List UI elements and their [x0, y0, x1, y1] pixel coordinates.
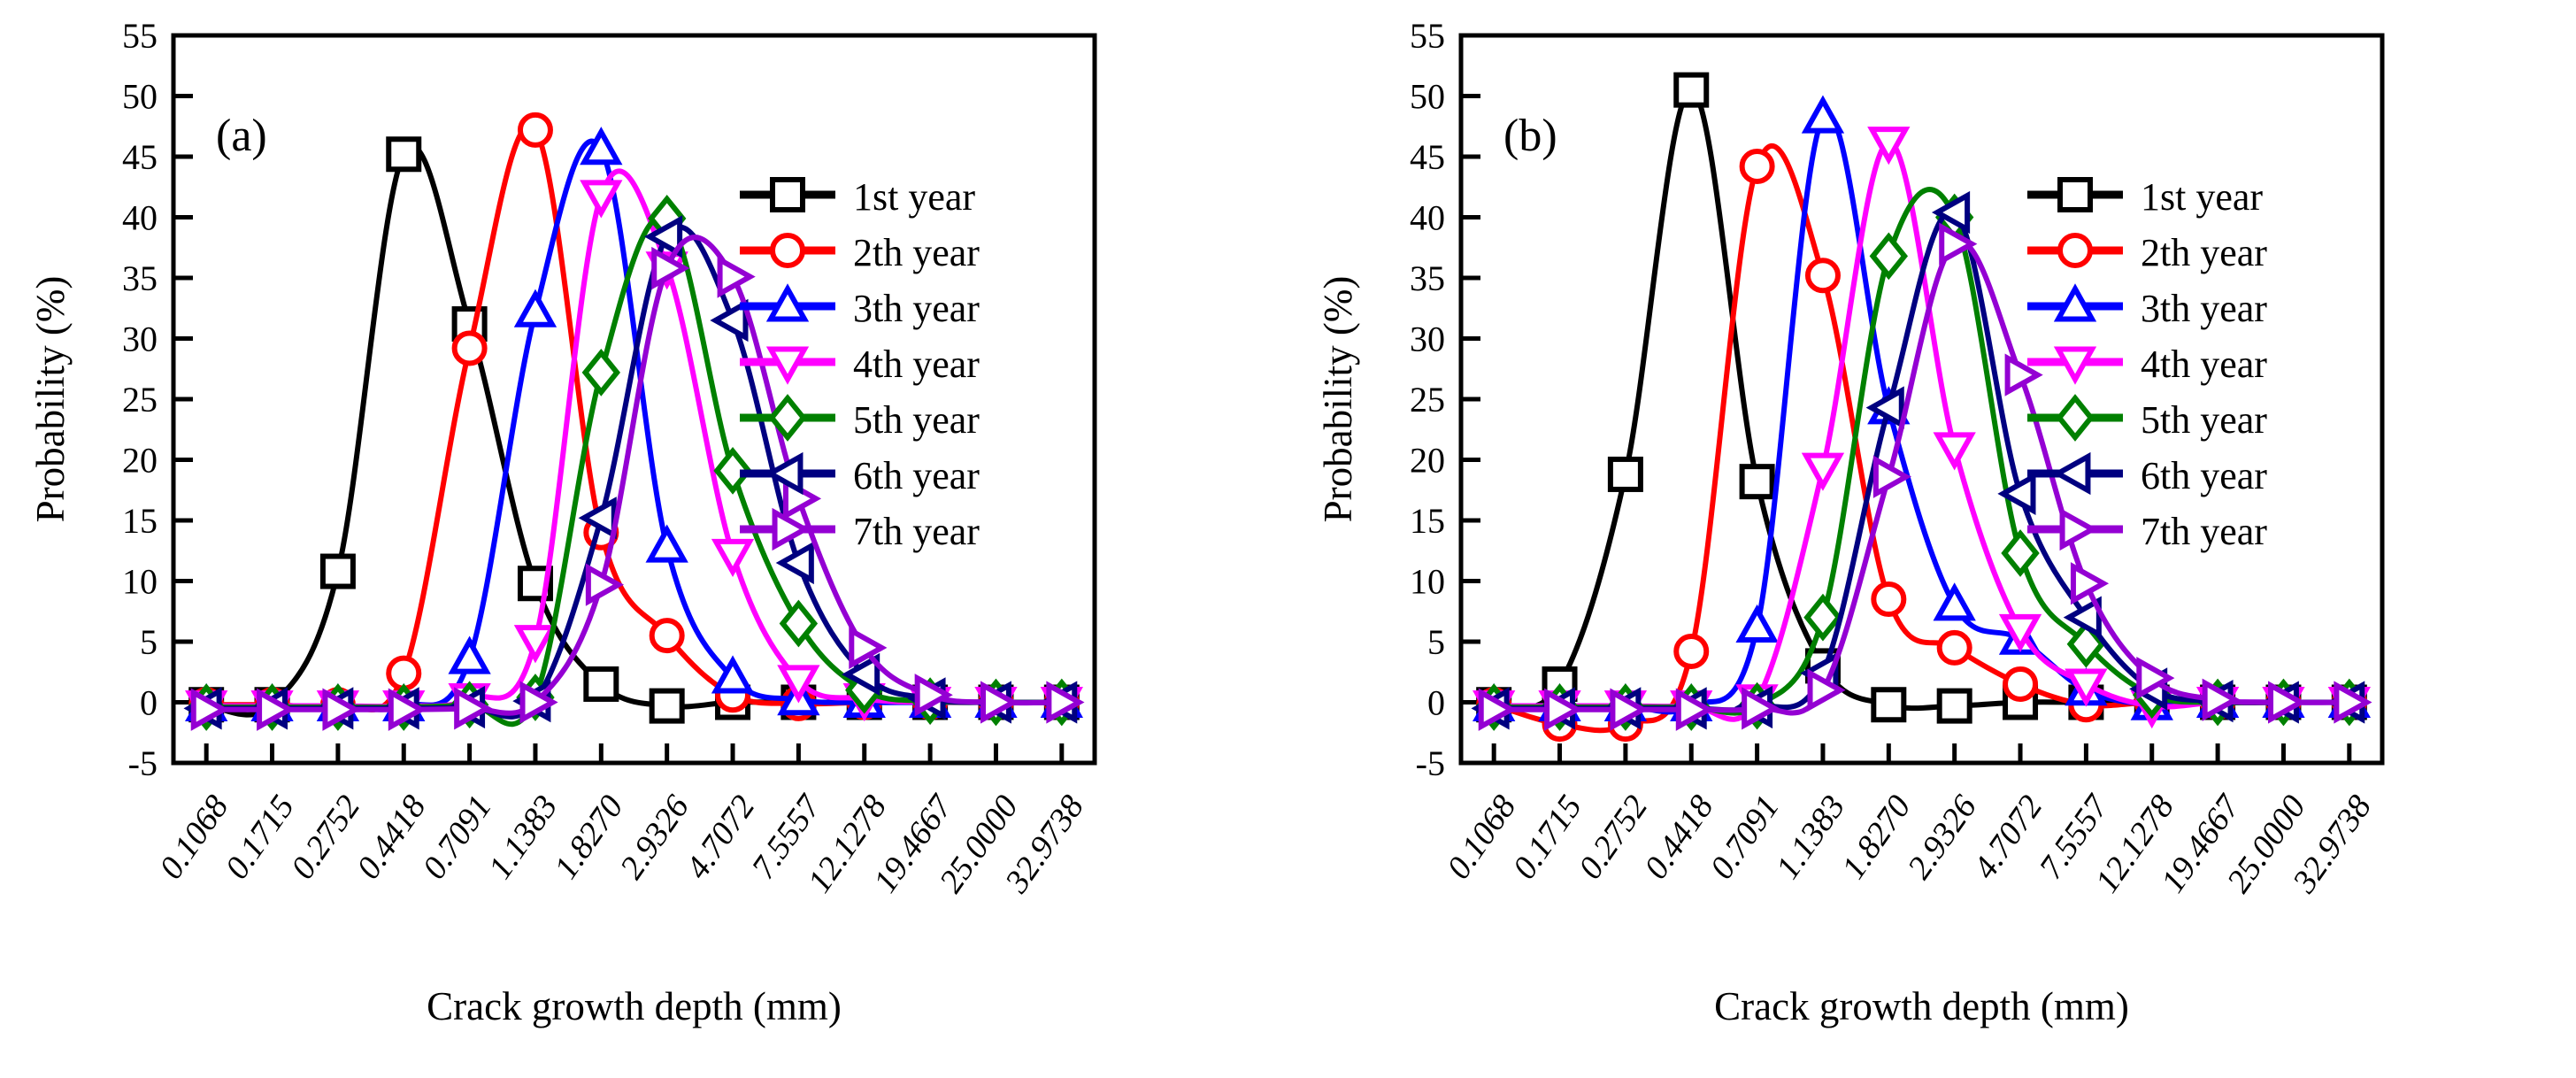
y-tick-label: 50: [1410, 77, 1445, 117]
series-marker: [1940, 633, 1970, 663]
series-marker: [2073, 566, 2103, 600]
y-axis: -50510152025303540455055: [122, 16, 193, 783]
x-tick-label: 0.2752: [284, 789, 367, 886]
y-tick-label: 5: [140, 622, 158, 662]
panel-tag: (a): [216, 111, 267, 161]
y-tick-label: 50: [122, 77, 158, 117]
legend-item-6th-year[interactable]: 6th year: [2027, 454, 2267, 497]
legend-label: 2th year: [2141, 231, 2267, 274]
legend-marker: [773, 235, 803, 266]
legend-marker: [2060, 235, 2090, 266]
series-marker: [1873, 584, 1903, 614]
figure-root: -505101520253035404550550.10680.17150.27…: [0, 0, 2576, 1078]
x-tick-label: 1.1383: [1769, 789, 1852, 886]
legend-item-7th-year[interactable]: 7th year: [740, 510, 980, 553]
legend-label: 1st year: [853, 175, 975, 219]
y-tick-label: 45: [122, 137, 158, 177]
series-marker: [652, 620, 682, 651]
y-tick-label: 15: [1410, 501, 1445, 541]
legend-item-4th-year[interactable]: 4th year: [740, 343, 980, 386]
legend: 1st year2th year3th year4th year5th year…: [2027, 175, 2267, 553]
series-marker: [519, 295, 552, 325]
series-marker: [1938, 588, 1972, 618]
x-tick-label: 0.7091: [1703, 789, 1787, 886]
series-marker: [1742, 466, 1772, 497]
x-tick-label: 0.1068: [152, 789, 235, 886]
y-axis-title: Probability (%): [28, 276, 73, 523]
series-marker: [584, 132, 618, 162]
x-tick-label: 0.2752: [1572, 789, 1655, 886]
x-tick-label: 0.4418: [350, 789, 433, 886]
series-marker: [1873, 689, 1903, 720]
legend-marker: [2060, 180, 2090, 210]
legend-label: 2th year: [853, 231, 980, 274]
legend-label: 5th year: [853, 398, 980, 442]
y-tick-label: 25: [122, 380, 158, 420]
legend-label: 3th year: [853, 287, 980, 330]
x-axis: 0.10680.17150.27520.44180.70911.13831.82…: [1440, 743, 2379, 900]
legend-label: 7th year: [2141, 510, 2267, 553]
legend-item-3th-year[interactable]: 3th year: [740, 287, 980, 330]
y-tick-label: 45: [1410, 137, 1445, 177]
legend-label: 3th year: [2141, 287, 2267, 330]
legend-marker: [2063, 512, 2093, 546]
series-marker: [1940, 691, 1970, 721]
x-tick-label: 1.8270: [547, 789, 630, 886]
y-axis-title: Probability (%): [1316, 276, 1360, 523]
y-tick-label: 10: [1410, 562, 1445, 602]
y-tick-label: 10: [122, 562, 158, 602]
series-marker: [1807, 598, 1839, 637]
series-marker: [520, 115, 550, 145]
y-tick-label: 20: [122, 441, 158, 481]
x-axis-title: Crack growth depth (mm): [427, 984, 842, 1028]
series-marker: [1742, 151, 1772, 181]
y-tick-label: 35: [1410, 258, 1445, 298]
y-tick-label: 5: [1427, 622, 1445, 662]
series-marker: [650, 530, 684, 560]
series-marker: [1611, 459, 1641, 489]
legend: 1st year2th year3th year4th year5th year…: [740, 175, 980, 553]
y-tick-label: 30: [122, 320, 158, 359]
y-tick-label: 35: [122, 258, 158, 298]
series-marker: [455, 333, 485, 363]
legend-item-1st-year[interactable]: 1st year: [2027, 175, 2263, 219]
y-tick-label: 0: [1427, 683, 1445, 723]
legend-label: 6th year: [853, 454, 980, 497]
legend-label: 5th year: [2141, 398, 2267, 442]
series-marker: [1806, 456, 1840, 486]
series-marker: [1806, 101, 1840, 131]
y-axis: -50510152025303540455055: [1410, 16, 1480, 783]
x-tick-label: 0.4418: [1637, 789, 1720, 886]
x-tick-label: 2.9326: [1901, 789, 1984, 886]
x-tick-label: 4.7072: [679, 789, 762, 886]
series-marker: [1808, 260, 1838, 290]
series-marker: [1938, 435, 1972, 465]
legend-item-5th-year[interactable]: 5th year: [740, 398, 980, 442]
series-marker: [1676, 636, 1706, 666]
y-tick-label: 15: [122, 501, 158, 541]
x-axis: 0.10680.17150.27520.44180.70911.13831.82…: [152, 743, 1091, 900]
series-marker: [2004, 534, 2036, 573]
series-marker: [1741, 610, 1774, 640]
x-tick-label: 0.1068: [1440, 789, 1523, 886]
legend-marker: [2059, 398, 2091, 437]
series-marker: [388, 139, 419, 169]
y-tick-label: 0: [140, 683, 158, 723]
legend-label: 1st year: [2141, 175, 2263, 219]
y-tick-label: 55: [1410, 16, 1445, 56]
chart-panel-b: -505101520253035404550550.10680.17150.27…: [1288, 0, 2575, 1078]
series-marker: [716, 542, 750, 572]
x-tick-label: 2.9326: [613, 789, 696, 886]
legend-label: 7th year: [853, 510, 980, 553]
legend-label: 4th year: [853, 343, 980, 386]
series-marker: [453, 642, 487, 672]
x-tick-label: 0.1715: [219, 789, 302, 886]
x-tick-label: 4.7072: [1966, 789, 2049, 886]
series-marker: [720, 260, 750, 294]
x-axis-title: Crack growth depth (mm): [1714, 984, 2129, 1028]
y-tick-label: 30: [1410, 320, 1445, 359]
legend-marker: [2057, 457, 2088, 490]
series-marker: [2005, 669, 2035, 699]
legend-item-4th-year[interactable]: 4th year: [2027, 343, 2267, 386]
y-tick-label: 25: [1410, 380, 1445, 420]
legend-marker: [773, 180, 803, 210]
x-tick-label: 1.8270: [1834, 789, 1918, 886]
legend-item-1st-year[interactable]: 1st year: [740, 175, 975, 219]
series-marker: [1676, 75, 1706, 105]
series-marker: [585, 353, 617, 392]
series-marker: [323, 557, 353, 587]
y-tick-label: 40: [122, 198, 158, 238]
legend-label: 4th year: [2141, 343, 2267, 386]
series-marker: [652, 691, 682, 721]
x-tick-label: 0.1715: [1506, 789, 1589, 886]
y-tick-label: 20: [1410, 441, 1445, 481]
legend-item-2th-year[interactable]: 2th year: [2027, 231, 2267, 274]
series-marker: [586, 669, 616, 699]
legend-item-2th-year[interactable]: 2th year: [740, 231, 980, 274]
y-tick-label: 55: [122, 16, 158, 56]
legend-item-5th-year[interactable]: 5th year: [2027, 398, 2267, 442]
legend-item-7th-year[interactable]: 7th year: [2027, 510, 2267, 553]
legend-item-3th-year[interactable]: 3th year: [2027, 287, 2267, 330]
y-tick-label: -5: [1416, 743, 1445, 783]
x-tick-label: 0.7091: [416, 789, 499, 886]
y-tick-label: 40: [1410, 198, 1445, 238]
y-tick-label: -5: [128, 743, 158, 783]
x-tick-label: 1.1383: [481, 789, 565, 886]
panel-tag: (b): [1503, 111, 1557, 161]
chart-panel-a: -505101520253035404550550.10680.17150.27…: [0, 0, 1288, 1078]
series-marker: [1872, 236, 1904, 275]
legend-label: 6th year: [2141, 454, 2267, 497]
